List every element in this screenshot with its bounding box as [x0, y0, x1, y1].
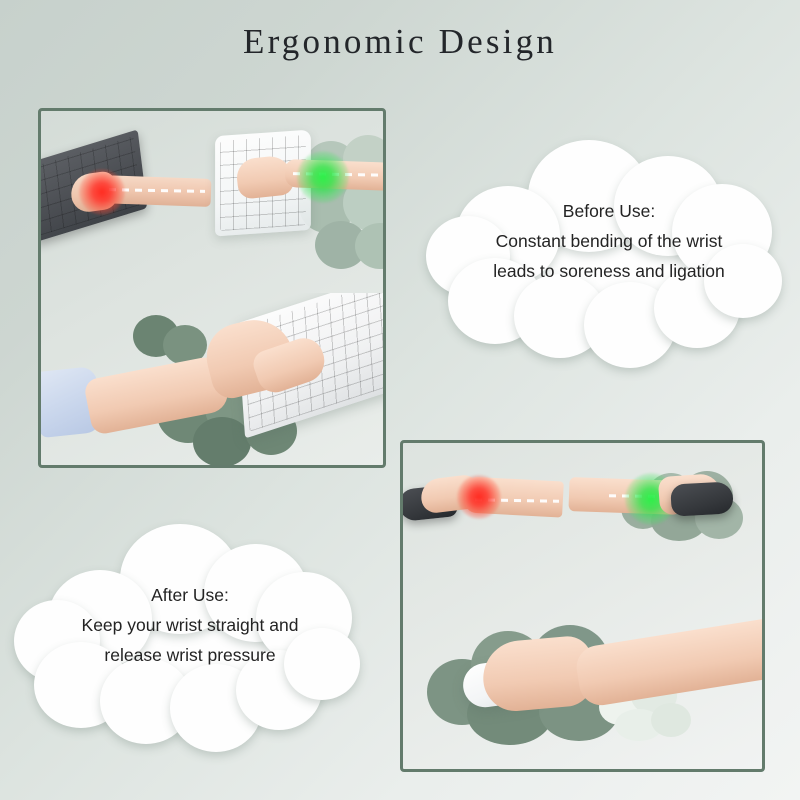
keyboard-bottom-scene [41, 293, 383, 465]
before-use-heading: Before Use: [450, 196, 768, 226]
before-use-text: Before Use: Constant bending of the wris… [450, 196, 768, 286]
mouse-panel [400, 440, 765, 772]
mouse-top-scene [403, 443, 762, 603]
keyboard-top-scene [41, 111, 383, 293]
page-title: Ergonomic Design [0, 22, 800, 62]
before-use-cloud: Before Use: Constant bending of the wris… [432, 142, 784, 372]
before-use-line1: Constant bending of the wrist [450, 226, 768, 256]
dark-mouse-right [670, 481, 734, 516]
after-use-line1: Keep your wrist straight and [32, 610, 348, 640]
before-use-line2: leads to soreness and ligation [450, 256, 768, 286]
infographic-canvas: Ergonomic Design [0, 0, 800, 800]
pain-indicator-red [79, 169, 125, 215]
after-use-text: After Use: Keep your wrist straight and … [32, 580, 348, 670]
pain-indicator-red [457, 475, 501, 519]
after-use-cloud: After Use: Keep your wrist straight and … [16, 528, 368, 758]
healthy-indicator-green [297, 151, 349, 203]
keyboard-panel [38, 108, 386, 468]
after-use-heading: After Use: [32, 580, 348, 610]
after-use-line2: release wrist pressure [32, 640, 348, 670]
mouse-bottom-scene [403, 603, 762, 769]
